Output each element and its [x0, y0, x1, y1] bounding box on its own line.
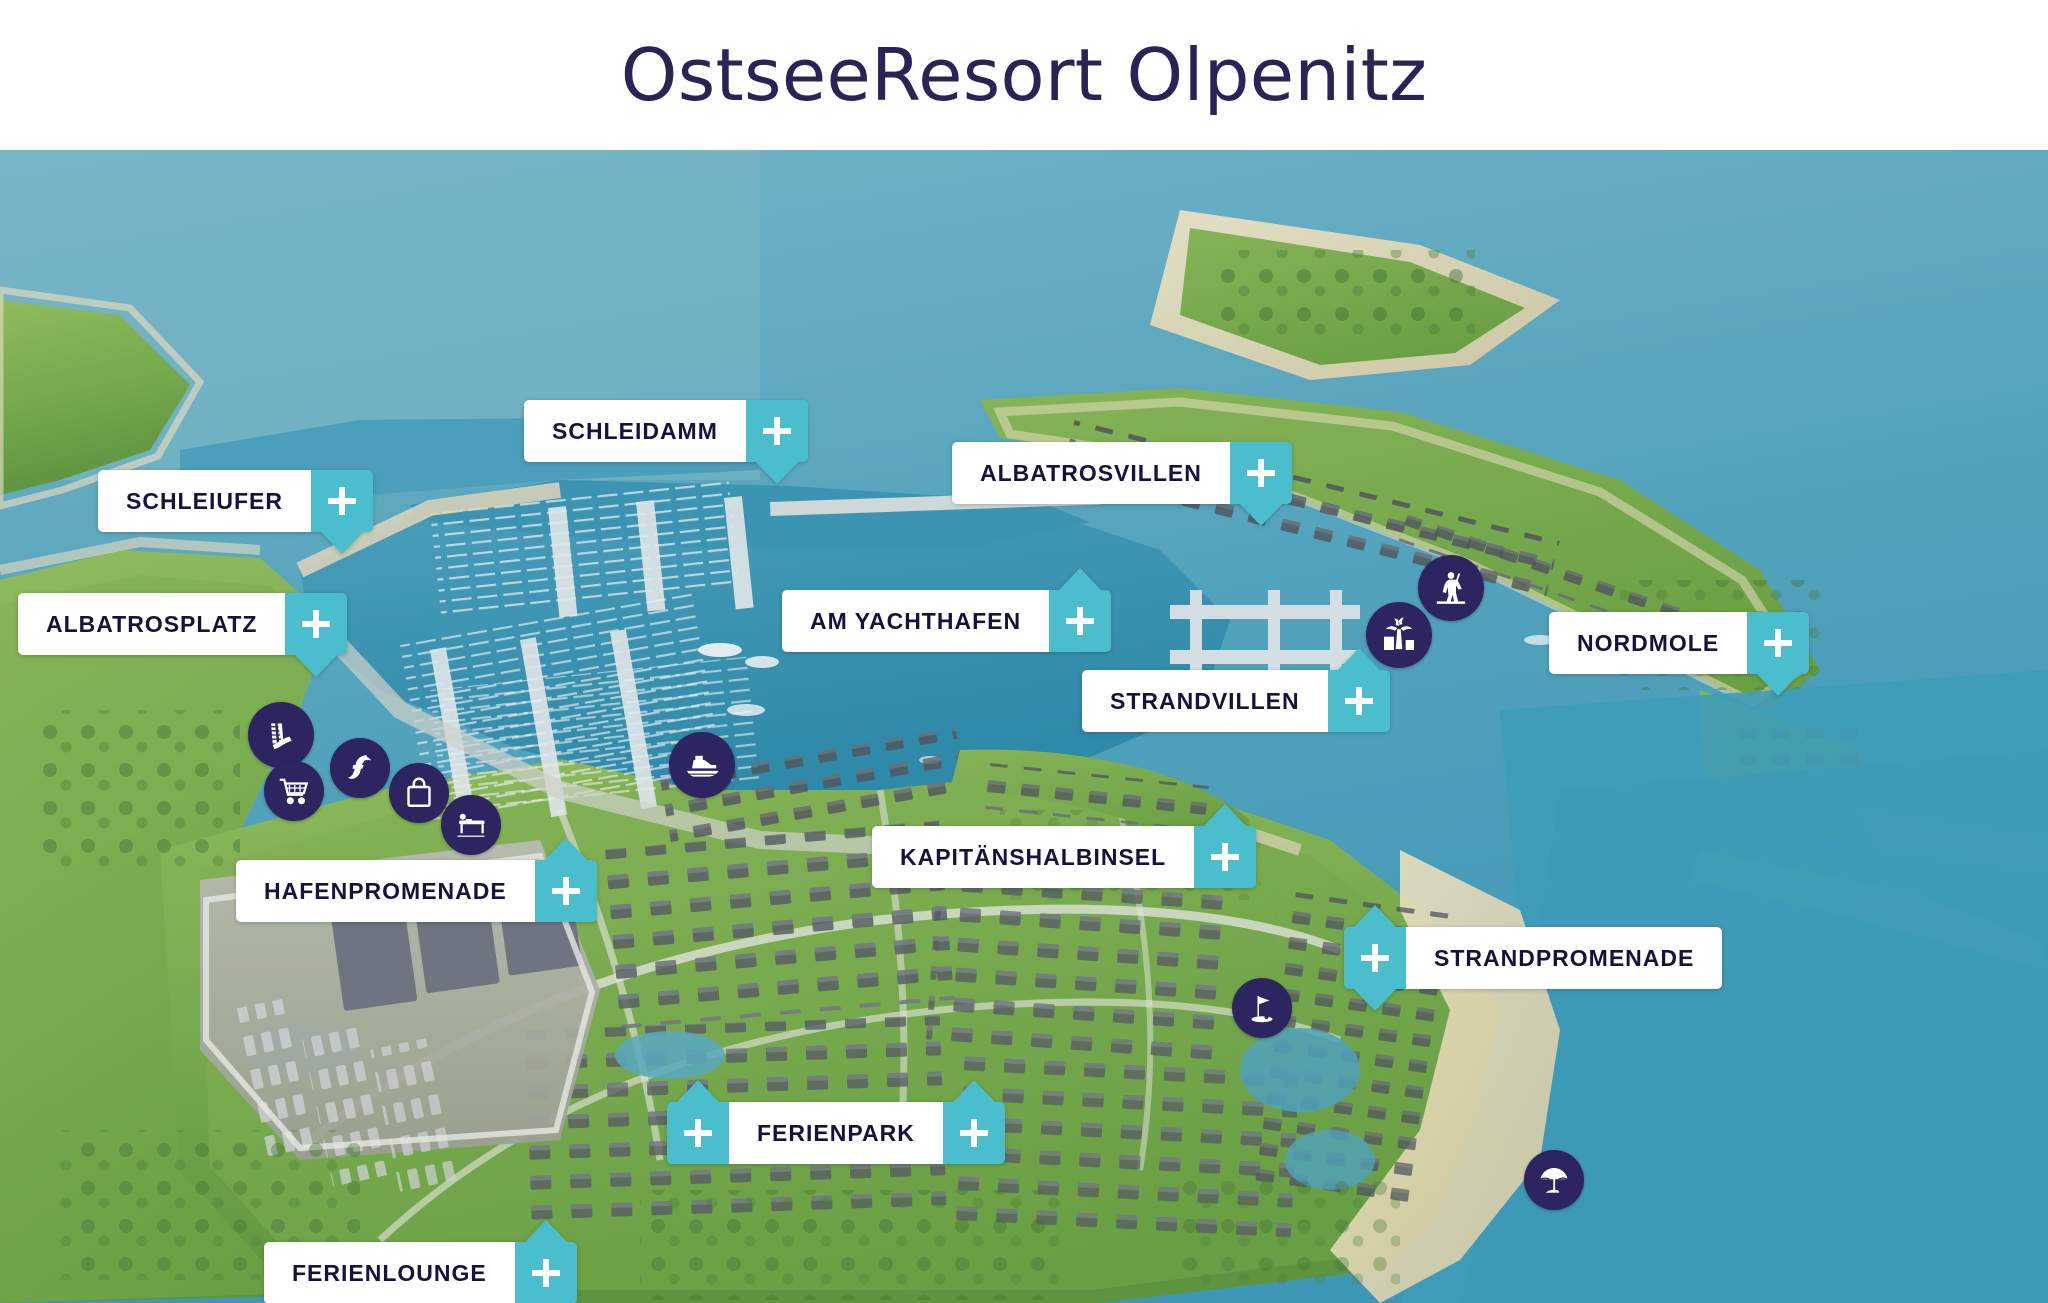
marker-label-pill-strandpromenade[interactable]: STRANDPROMENADE [1406, 927, 1722, 989]
marker-label-pill-albatrosplatz[interactable]: ALBATROSPLATZ [18, 593, 285, 655]
map-marker-schleiufer[interactable]: SCHLEIUFER [98, 470, 373, 532]
expand-button-nordmole[interactable] [1747, 612, 1809, 674]
expand-button-am-yachthafen[interactable] [1049, 590, 1111, 652]
marker-label-text: KAPITÄNSHALBINSEL [900, 844, 1166, 871]
marker-label-text: AM YACHTHAFEN [810, 608, 1021, 635]
poi-marker-wellness[interactable] [330, 738, 390, 798]
expand-button-hafenpromenade[interactable] [535, 860, 597, 922]
map-marker-strandpromenade[interactable]: STRANDPROMENADE [1344, 927, 1722, 989]
expand-button-strandpromenade[interactable] [1344, 927, 1406, 989]
pointer-tip-up [525, 1220, 567, 1242]
plus-icon [532, 1259, 560, 1287]
massage-table-icon [453, 807, 489, 843]
poi-marker-beach[interactable] [1524, 1150, 1584, 1210]
shopping-cart-icon [276, 773, 312, 809]
marker-label-text: SCHLEIDAMM [552, 418, 718, 445]
marker-label-pill-schleiufer[interactable]: SCHLEIUFER [98, 470, 311, 532]
map-marker-schleidamm[interactable]: SCHLEIDAMM [524, 400, 808, 462]
plus-icon [763, 417, 791, 445]
expand-button-ferienlounge[interactable] [515, 1242, 577, 1303]
marker-label-pill-kapitaenshalbinsel[interactable]: KAPITÄNSHALBINSEL [872, 826, 1194, 888]
marker-label-pill-schleidamm[interactable]: SCHLEIDAMM [524, 400, 746, 462]
poi-marker-waterslide[interactable] [248, 702, 314, 768]
pointer-tip-up [545, 838, 587, 860]
plus-icon [1247, 459, 1275, 487]
pointer-tip-up [953, 1080, 995, 1102]
map-marker-albatrosvillen[interactable]: ALBATROSVILLEN [952, 442, 1292, 504]
map-marker-nordmole[interactable]: NORDMOLE [1549, 612, 1809, 674]
shopping-bag-icon [401, 775, 437, 811]
plus-icon [328, 487, 356, 515]
expand-button-kapitaenshalbinsel[interactable] [1194, 826, 1256, 888]
marker-label-pill-albatrosvillen[interactable]: ALBATROSVILLEN [952, 442, 1230, 504]
map-marker-kapitaenshalbinsel[interactable]: KAPITÄNSHALBINSEL [872, 826, 1256, 888]
plus-icon [302, 610, 330, 638]
plus-icon [552, 877, 580, 905]
plus-icon [1211, 843, 1239, 871]
stand-up-paddle-icon [1431, 568, 1471, 608]
plus-icon [1764, 629, 1792, 657]
plus-icon [1066, 607, 1094, 635]
resort-map-page: OstseeResort Olpenitz [0, 0, 2048, 1303]
map-marker-ferienlounge[interactable]: FERIENLOUNGE [264, 1242, 577, 1303]
plus-icon [684, 1119, 712, 1147]
poi-marker-golf[interactable] [1232, 978, 1292, 1038]
marker-label-pill-ferienpark[interactable]: FERIENPARK [729, 1102, 943, 1164]
golf-flag-icon [1244, 990, 1280, 1026]
marker-label-text: ALBATROSPLATZ [46, 611, 257, 638]
map-marker-strandvillen[interactable]: STRANDVILLEN [1082, 670, 1390, 732]
water-slide-icon [261, 715, 301, 755]
pointer-tip-down [1240, 504, 1282, 526]
expand-button-strandvillen[interactable] [1328, 670, 1390, 732]
pointer-tip-down [321, 532, 363, 554]
expand-button-albatrosplatz[interactable] [285, 593, 347, 655]
marker-label-text: NORDMOLE [1577, 630, 1719, 657]
resort-palm-icon [1379, 615, 1419, 655]
marker-label-text: FERIENLOUNGE [292, 1260, 487, 1287]
marker-label-text: STRANDVILLEN [1110, 688, 1300, 715]
poi-marker-shopping[interactable] [264, 761, 324, 821]
pointer-tip-up [1204, 804, 1246, 826]
marker-label-pill-strandvillen[interactable]: STRANDVILLEN [1082, 670, 1328, 732]
map-marker-albatrosplatz[interactable]: ALBATROSPLATZ [18, 593, 347, 655]
pointer-tip-up [1059, 568, 1101, 590]
page-title: OstseeResort Olpenitz [621, 39, 1428, 111]
expand-button-albatrosvillen[interactable] [1230, 442, 1292, 504]
pointer-tip-down [295, 655, 337, 677]
marker-label-pill-hafenpromenade[interactable]: HAFENPROMENADE [236, 860, 535, 922]
sauna-f-icon [342, 750, 378, 786]
poi-marker-sup[interactable] [1418, 555, 1484, 621]
marker-label-pill-nordmole[interactable]: NORDMOLE [1549, 612, 1747, 674]
map-marker-hafenpromenade[interactable]: HAFENPROMENADE [236, 860, 597, 922]
page-header: OstseeResort Olpenitz [0, 0, 2048, 150]
marker-label-text: SCHLEIUFER [126, 488, 283, 515]
marker-label-pill-ferienlounge[interactable]: FERIENLOUNGE [264, 1242, 515, 1303]
map-marker-ferienpark[interactable]: FERIENPARK [667, 1102, 1005, 1164]
pointer-tip-up [1354, 905, 1396, 927]
marker-label-pill-am-yachthafen[interactable]: AM YACHTHAFEN [782, 590, 1049, 652]
marker-label-text: HAFENPROMENADE [264, 878, 507, 905]
plus-icon [1345, 687, 1373, 715]
poi-marker-retail[interactable] [389, 763, 449, 823]
pointer-tip-down [1757, 674, 1799, 696]
pointer-tip-down [1354, 989, 1396, 1011]
motorboat-icon [682, 745, 722, 785]
expand-button-ferienpark-right[interactable] [943, 1102, 1005, 1164]
beach-umbrella-icon [1536, 1162, 1572, 1198]
poi-marker-boat-tour[interactable] [669, 732, 735, 798]
expand-button-schleiufer[interactable] [311, 470, 373, 532]
pointer-tip-up [677, 1080, 719, 1102]
plus-icon [960, 1119, 988, 1147]
map-marker-am-yachthafen[interactable]: AM YACHTHAFEN [782, 590, 1111, 652]
expand-button-schleidamm[interactable] [746, 400, 808, 462]
marker-label-text: STRANDPROMENADE [1434, 945, 1694, 972]
marker-label-text: FERIENPARK [757, 1120, 915, 1147]
expand-button-ferienpark-left[interactable] [667, 1102, 729, 1164]
poi-marker-resort-town[interactable] [1366, 602, 1432, 668]
poi-marker-spa[interactable] [441, 795, 501, 855]
marker-label-text: ALBATROSVILLEN [980, 460, 1202, 487]
plus-icon [1361, 944, 1389, 972]
pointer-tip-down [756, 462, 798, 484]
